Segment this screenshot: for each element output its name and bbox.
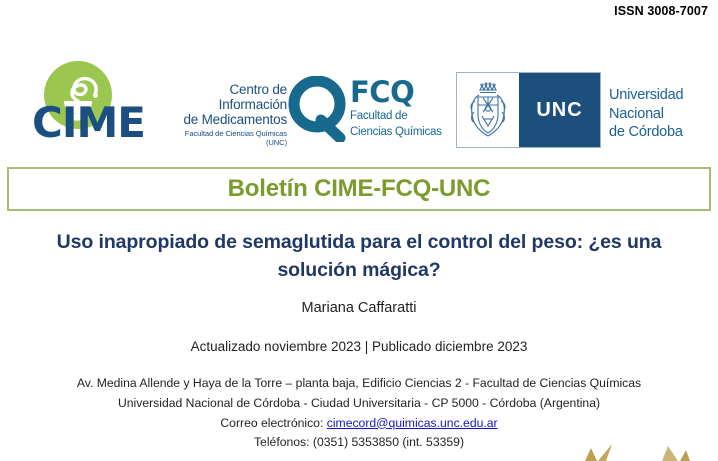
issn-label: ISSN 3008-7007 <box>614 4 708 18</box>
article-author: Mariana Caffaratti <box>0 300 718 316</box>
logo-strip: CIME Centro de Información de Medicament… <box>0 58 718 160</box>
fcq-logo: FCQ Facultad de Ciencias Químicas <box>288 76 448 148</box>
article-title: Uso inapropiado de semaglutida para el c… <box>30 228 688 285</box>
cime-tagline-line3: Facultad de Ciencias Químicas (UNC) <box>162 130 287 147</box>
cime-wordmark: CIME <box>32 102 172 144</box>
cime-tagline: Centro de Información de Medicamentos Fa… <box>162 82 287 147</box>
contact-email-line: Correo electrónico: cimecord@quimicas.un… <box>0 414 718 434</box>
article-dates: Actualizado noviembre 2023 | Publicado d… <box>0 339 718 354</box>
unc-crest-icon <box>467 81 509 139</box>
q-mark-icon <box>288 76 350 142</box>
unc-crest-cell <box>457 73 519 147</box>
unc-name-line3: de Córdoba <box>609 123 683 142</box>
fcq-sub-line1: Facultad de <box>350 110 442 123</box>
fcq-text: FCQ Facultad de Ciencias Químicas <box>350 78 442 139</box>
bulletin-banner: Boletín CIME-FCQ-UNC <box>7 167 711 211</box>
contact-email-link[interactable]: cimecord@quimicas.unc.edu.ar <box>327 416 498 430</box>
cime-logo: CIME Centro de Información de Medicament… <box>32 58 282 158</box>
cime-tagline-line1: Centro de Información <box>162 82 287 112</box>
article-title-line2: solución mágica? <box>277 259 440 281</box>
fcq-sub-line2: Ciencias Químicas <box>350 126 442 139</box>
unc-name: Universidad Nacional de Córdoba <box>609 86 683 142</box>
contact-block: Av. Medina Allende y Haya de la Torre – … <box>0 374 718 453</box>
unc-logo-box: UNC <box>456 72 601 148</box>
unc-name-line1: Universidad <box>609 86 683 105</box>
contact-phone: Teléfonos: (0351) 5353850 (int. 53359) <box>0 433 718 453</box>
bulletin-title: Boletín CIME-FCQ-UNC <box>228 175 491 203</box>
unc-name-line2: Nacional <box>609 105 683 124</box>
contact-email-label: Correo electrónico: <box>220 416 323 430</box>
unc-abbrev-cell: UNC <box>519 73 600 147</box>
unc-abbrev: UNC <box>536 99 582 122</box>
article-title-line1: Uso inapropiado de semaglutida para el c… <box>57 231 662 253</box>
contact-address-line2: Universidad Nacional de Córdoba - Ciudad… <box>0 394 718 414</box>
contact-address-line1: Av. Medina Allende y Haya de la Torre – … <box>0 374 718 394</box>
unc-logo: UNC Universidad Nacional de Córdoba <box>456 72 706 150</box>
cime-tagline-line2: de Medicamentos <box>162 112 287 127</box>
fcq-wordmark: FCQ <box>350 78 442 107</box>
cime-mark: CIME <box>32 58 172 158</box>
